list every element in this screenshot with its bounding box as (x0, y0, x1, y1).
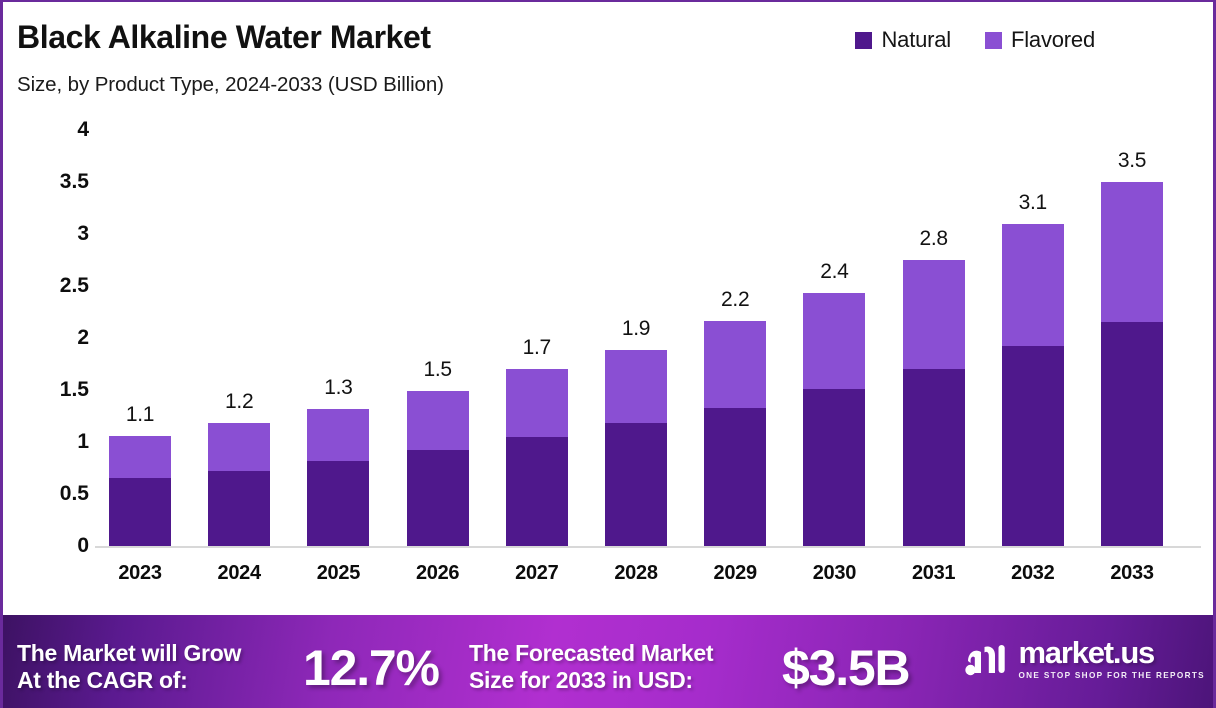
bar-segment-natural-2027[interactable] (506, 437, 568, 546)
legend-swatch-natural (855, 32, 872, 49)
cagr-label-line-1: The Market will Grow (17, 640, 241, 666)
y-axis-tick: 1 (77, 430, 89, 454)
bar-group-2030[interactable]: 2.4 (803, 293, 865, 546)
bar-segment-flavored-2024[interactable] (208, 423, 270, 471)
x-axis-tick-2033: 2033 (1101, 562, 1163, 585)
bar-group-2033[interactable]: 3.5 (1101, 182, 1163, 546)
market-infographic: Black Alkaline Water Market Size, by Pro… (0, 0, 1216, 708)
bar-value-label-2026: 1.5 (423, 358, 451, 382)
logo-wordmark: market.us (1018, 637, 1205, 668)
legend-swatch-flavored (985, 32, 1002, 49)
bar-value-label-2033: 3.5 (1118, 149, 1146, 173)
logo-text: market.us ONE STOP SHOP FOR THE REPORTS (1018, 637, 1205, 680)
y-axis-tick: 4 (77, 118, 89, 142)
y-axis: 00.511.522.533.54 (3, 110, 95, 550)
x-axis-tick-2030: 2030 (803, 562, 865, 585)
x-axis-tick-2027: 2027 (506, 562, 568, 585)
bar-segment-flavored-2029[interactable] (704, 321, 766, 407)
logo-tagline: ONE STOP SHOP FOR THE REPORTS (1018, 671, 1205, 680)
market-us-logo[interactable]: market.us ONE STOP SHOP FOR THE REPORTS (962, 637, 1205, 680)
cagr-label: The Market will Grow At the CAGR of: (17, 640, 241, 694)
legend-label-natural: Natural (881, 27, 951, 53)
bar-group-2029[interactable]: 2.2 (704, 321, 766, 546)
x-axis: 2023202420252026202720282029203020312032… (103, 553, 1203, 593)
y-axis-tick: 2 (77, 326, 89, 350)
y-axis-tick: 2.5 (60, 274, 89, 298)
forecast-size-label-line-2: Size for 2033 in USD: (469, 667, 693, 693)
bar-segment-natural-2029[interactable] (704, 408, 766, 546)
bar-value-label-2027: 1.7 (523, 336, 551, 360)
chart-legend: NaturalFlavored (855, 27, 1095, 53)
y-axis-tick: 1.5 (60, 378, 89, 402)
bar-group-2023[interactable]: 1.1 (109, 436, 171, 546)
x-axis-baseline (95, 546, 1201, 548)
bar-value-label-2023: 1.1 (126, 403, 154, 427)
bar-segment-natural-2026[interactable] (407, 450, 469, 546)
market-us-logo-icon (962, 639, 1008, 679)
x-axis-tick-2023: 2023 (109, 562, 171, 585)
forecast-size-label: The Forecasted Market Size for 2033 in U… (469, 640, 713, 694)
bar-value-label-2024: 1.2 (225, 390, 253, 414)
x-axis-tick-2025: 2025 (307, 562, 369, 585)
bar-group-2032[interactable]: 3.1 (1002, 224, 1064, 546)
summary-banner: The Market will Grow At the CAGR of: 12.… (3, 615, 1216, 708)
page-title: Black Alkaline Water Market (17, 19, 431, 56)
legend-item-natural[interactable]: Natural (855, 27, 951, 53)
bar-group-2024[interactable]: 1.2 (208, 423, 270, 546)
y-axis-tick: 0 (77, 534, 89, 558)
bar-value-label-2031: 2.8 (919, 227, 947, 251)
bar-segment-natural-2023[interactable] (109, 478, 171, 546)
bar-segment-natural-2024[interactable] (208, 471, 270, 546)
bar-segment-natural-2031[interactable] (903, 369, 965, 546)
chart-header: Black Alkaline Water Market Size, by Pro… (3, 2, 1213, 110)
bar-segment-flavored-2032[interactable] (1002, 224, 1064, 347)
bar-segment-natural-2030[interactable] (803, 389, 865, 546)
legend-item-flavored[interactable]: Flavored (985, 27, 1095, 53)
bar-segment-natural-2028[interactable] (605, 423, 667, 546)
bar-segment-natural-2033[interactable] (1101, 322, 1163, 546)
bar-group-2027[interactable]: 1.7 (506, 369, 568, 546)
forecast-size-label-line-1: The Forecasted Market (469, 640, 713, 666)
x-axis-tick-2028: 2028 (605, 562, 667, 585)
bar-segment-flavored-2026[interactable] (407, 391, 469, 450)
x-axis-tick-2024: 2024 (208, 562, 270, 585)
bar-segment-flavored-2031[interactable] (903, 260, 965, 369)
chart-subtitle: Size, by Product Type, 2024-2033 (USD Bi… (17, 73, 444, 97)
bar-group-2031[interactable]: 2.8 (903, 260, 965, 546)
bar-value-label-2029: 2.2 (721, 288, 749, 312)
chart-plot-area: 00.511.522.533.54 1.11.21.31.51.71.92.22… (3, 110, 1213, 607)
x-axis-tick-2026: 2026 (407, 562, 469, 585)
forecast-size-value: $3.5B (782, 639, 909, 697)
bar-group-2026[interactable]: 1.5 (407, 391, 469, 546)
bar-segment-flavored-2030[interactable] (803, 293, 865, 389)
bar-group-2028[interactable]: 1.9 (605, 350, 667, 546)
x-axis-tick-2029: 2029 (704, 562, 766, 585)
cagr-label-line-2: At the CAGR of: (17, 667, 188, 693)
y-axis-tick: 3 (77, 222, 89, 246)
bar-value-label-2032: 3.1 (1019, 191, 1047, 215)
y-axis-tick: 3.5 (60, 170, 89, 194)
bar-segment-flavored-2028[interactable] (605, 350, 667, 423)
bar-segment-flavored-2033[interactable] (1101, 182, 1163, 322)
bar-segment-natural-2025[interactable] (307, 461, 369, 546)
x-axis-tick-2032: 2032 (1002, 562, 1064, 585)
bar-segment-flavored-2027[interactable] (506, 369, 568, 437)
bar-value-label-2025: 1.3 (324, 376, 352, 400)
bar-group-2025[interactable]: 1.3 (307, 409, 369, 546)
bar-segment-flavored-2025[interactable] (307, 409, 369, 461)
bar-value-label-2030: 2.4 (820, 260, 848, 284)
legend-label-flavored: Flavored (1011, 27, 1095, 53)
bar-segment-natural-2032[interactable] (1002, 346, 1064, 546)
y-axis-tick: 0.5 (60, 482, 89, 506)
cagr-value: 12.7% (303, 639, 439, 697)
bar-segment-flavored-2023[interactable] (109, 436, 171, 479)
bar-value-label-2028: 1.9 (622, 317, 650, 341)
x-axis-tick-2031: 2031 (903, 562, 965, 585)
bar-series-container: 1.11.21.31.51.71.92.22.42.83.13.5 (103, 110, 1203, 546)
